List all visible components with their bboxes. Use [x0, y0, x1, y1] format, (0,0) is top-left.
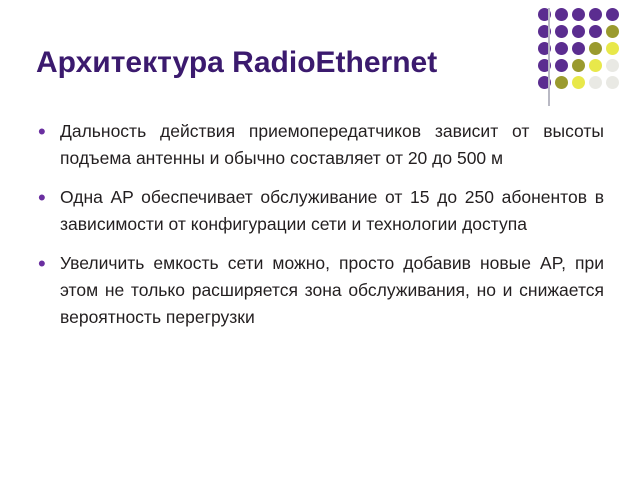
bullet-icon: • [34, 184, 60, 211]
list-item: • Дальность действия приемопередатчиков … [34, 118, 604, 172]
decorative-dot [572, 76, 585, 89]
decorative-dot [555, 76, 568, 89]
decorative-dot [572, 59, 585, 72]
decorative-dot [606, 59, 619, 72]
slide: Архитектура RadioEthernet • Дальность де… [0, 0, 640, 480]
decorative-dot [555, 59, 568, 72]
page-title: Архитектура RadioEthernet [36, 46, 556, 80]
bullet-icon: • [34, 250, 60, 277]
decorative-dot [589, 42, 602, 55]
list-item: • Одна AP обеспечивает обслуживание от 1… [34, 184, 604, 238]
bullet-list: • Дальность действия приемопередатчиков … [34, 118, 604, 343]
decorative-dot [572, 42, 585, 55]
decorative-dot [589, 8, 602, 21]
decorative-dot [589, 76, 602, 89]
decorative-dot [555, 25, 568, 38]
decorative-dot [606, 42, 619, 55]
decorative-dot [606, 25, 619, 38]
decorative-dot [572, 25, 585, 38]
decorative-dot [589, 59, 602, 72]
list-item-text: Одна AP обеспечивает обслуживание от 15 … [60, 184, 604, 238]
list-item-text: Дальность действия приемопередатчиков за… [60, 118, 604, 172]
list-item: • Увеличить емкость сети можно, просто д… [34, 250, 604, 331]
decorative-dot [589, 25, 602, 38]
decorative-dot [572, 8, 585, 21]
decorative-dot [555, 8, 568, 21]
decorative-dot [555, 42, 568, 55]
list-item-text: Увеличить емкость сети можно, просто доб… [60, 250, 604, 331]
bullet-icon: • [34, 118, 60, 145]
decorative-dot [606, 76, 619, 89]
decorative-dot [606, 8, 619, 21]
